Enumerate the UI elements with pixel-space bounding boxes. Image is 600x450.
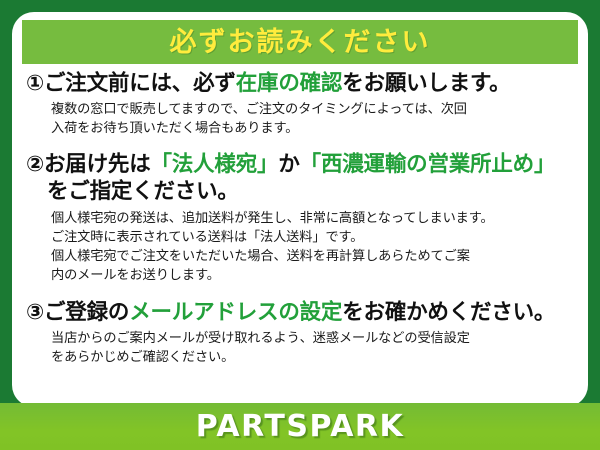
notice-item-3: ③ご登録のメールアドレスの設定をお確かめください。 当店からのご案内メールが受け… xyxy=(26,299,576,367)
heading-segment: ③ご登録の xyxy=(26,300,129,325)
heading-segment-highlight: 「法人様宛」 xyxy=(151,152,279,177)
heading-segment-highlight: 「西濃運輸の営業所止め」 xyxy=(300,152,556,177)
heading-segment: をお願いします。 xyxy=(342,71,510,96)
notice-item-1-body: 複数の窓口で販売してますので、ご注文のタイミングによっては、次回 入荷をお待ち頂… xyxy=(26,100,576,138)
brand-logo: PARTSPARK xyxy=(196,412,405,442)
heading-segment: ①ご注文前には、必ず xyxy=(26,71,236,96)
page-title: 必ずお読みください xyxy=(170,29,431,56)
heading-segment: か xyxy=(278,152,299,177)
notice-item-2-heading: ②お届け先は「法人様宛」か「西濃運輸の営業所止め」 をご指定ください。 xyxy=(26,151,576,205)
notice-item-2-body: 個人様宅宛の発送は、追加送料が発生し、非常に高額となってしまいます。 ご注文時に… xyxy=(26,209,576,286)
heading-segment: をお確かめください。 xyxy=(342,300,555,325)
notice-item-2-heading-line2: をご指定ください。 xyxy=(26,178,576,205)
notice-content: ①ご注文前には、必ず在庫の確認をお願いします。 複数の窓口で販売してますので、ご… xyxy=(12,68,588,369)
notice-item-3-body: 当店からのご案内メールが受け取れるよう、迷惑メールなどの受信設定 をあらかじめご… xyxy=(26,329,576,367)
heading-segment: ②お届け先は xyxy=(26,152,151,177)
heading-segment-highlight: メールアドレスの設定 xyxy=(129,300,342,325)
notice-item-1: ①ご注文前には、必ず在庫の確認をお願いします。 複数の窓口で販売してますので、ご… xyxy=(26,70,576,138)
notice-item-1-heading: ①ご注文前には、必ず在庫の確認をお願いします。 xyxy=(26,70,576,97)
footer-band: PARTSPARK xyxy=(0,403,600,450)
notice-title-band: 必ずお読みください xyxy=(22,20,578,64)
notice-panel: 必ずお読みください ①ご注文前には、必ず在庫の確認をお願いします。 複数の窓口で… xyxy=(12,12,588,407)
heading-segment-highlight: 在庫の確認 xyxy=(236,71,343,96)
notice-card: 必ずお読みください ①ご注文前には、必ず在庫の確認をお願いします。 複数の窓口で… xyxy=(0,0,600,450)
notice-item-3-heading: ③ご登録のメールアドレスの設定をお確かめください。 xyxy=(26,299,576,326)
notice-item-2: ②お届け先は「法人様宛」か「西濃運輸の営業所止め」 をご指定ください。 個人様宅… xyxy=(26,151,576,285)
